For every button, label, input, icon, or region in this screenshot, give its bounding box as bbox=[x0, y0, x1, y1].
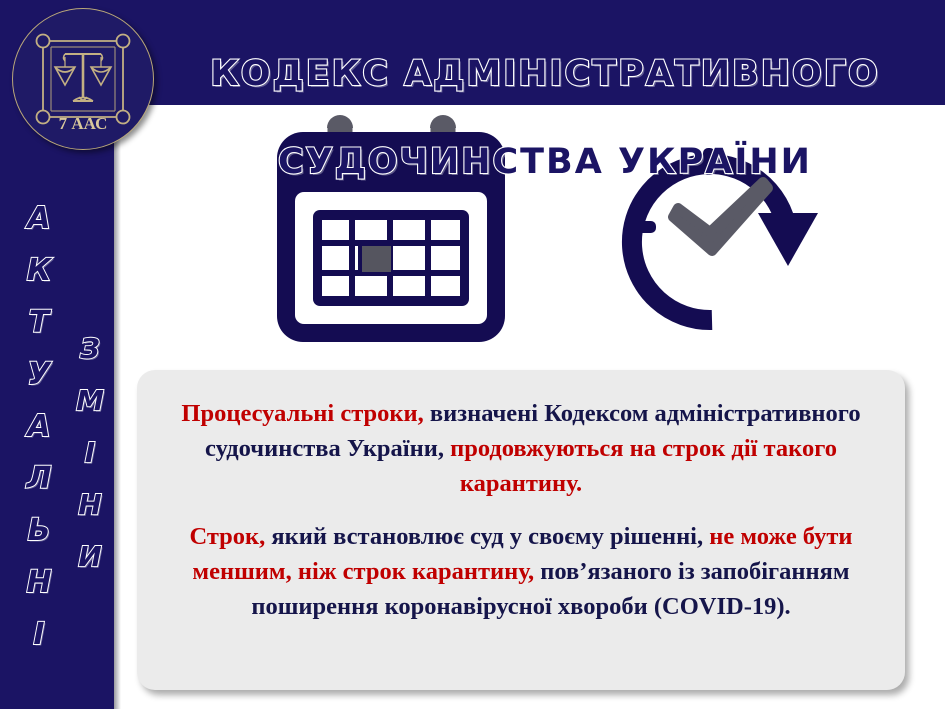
scales-of-justice-icon: 7 ААС bbox=[13, 9, 153, 149]
paragraph-1-highlight-1: Процесуальні строки, bbox=[181, 400, 423, 427]
sidebar-letter: М bbox=[66, 375, 114, 427]
sidebar-letter: І bbox=[14, 609, 64, 661]
paragraph-2-text-1: який встановлює суд у своєму рішенні, bbox=[265, 523, 703, 550]
logo-text: 7 ААС bbox=[59, 114, 108, 133]
content-card: Процесуальні строки, визначені Кодексом … bbox=[137, 370, 905, 690]
sidebar-letter: Н bbox=[14, 557, 64, 609]
paragraph-1-highlight-2: продовжуються на строк дії такого карант… bbox=[444, 435, 837, 497]
sidebar-letter: Т bbox=[14, 297, 64, 349]
sidebar-letter: К bbox=[14, 245, 64, 297]
court-logo: 7 ААС bbox=[12, 8, 154, 150]
sidebar-letter: У bbox=[14, 349, 64, 401]
page-title: КОДЕКС АДМІНІСТРАТИВНОГО СУДОЧИНСТВА УКР… bbox=[150, 8, 940, 228]
paragraph-2: Строк, який встановлює суд у своєму ріше… bbox=[165, 519, 877, 624]
sidebar-vertical-word-aktualni: А К Т У А Л Ь Н І bbox=[14, 193, 64, 661]
sidebar-vertical-word-zminy: З М І Н И bbox=[66, 323, 114, 583]
sidebar-letter: А bbox=[14, 401, 64, 453]
sidebar-letter: Ь bbox=[14, 505, 64, 557]
page-title-line-1: КОДЕКС АДМІНІСТРАТИВНОГО bbox=[150, 52, 940, 96]
paragraph-1: Процесуальні строки, визначені Кодексом … bbox=[165, 396, 877, 501]
sidebar-edge-divider bbox=[114, 105, 121, 709]
sidebar-letter: І bbox=[66, 427, 114, 479]
paragraph-2-highlight-1: Строк, bbox=[189, 523, 265, 550]
sidebar-letter: З bbox=[66, 323, 114, 375]
sidebar-letter: Л bbox=[14, 453, 64, 505]
sidebar-letter: И bbox=[66, 531, 114, 583]
page-title-line-2: СУДОЧИНСТВА УКРАЇНИ bbox=[150, 140, 940, 184]
sidebar-letter: Н bbox=[66, 479, 114, 531]
sidebar-letter: А bbox=[14, 193, 64, 245]
